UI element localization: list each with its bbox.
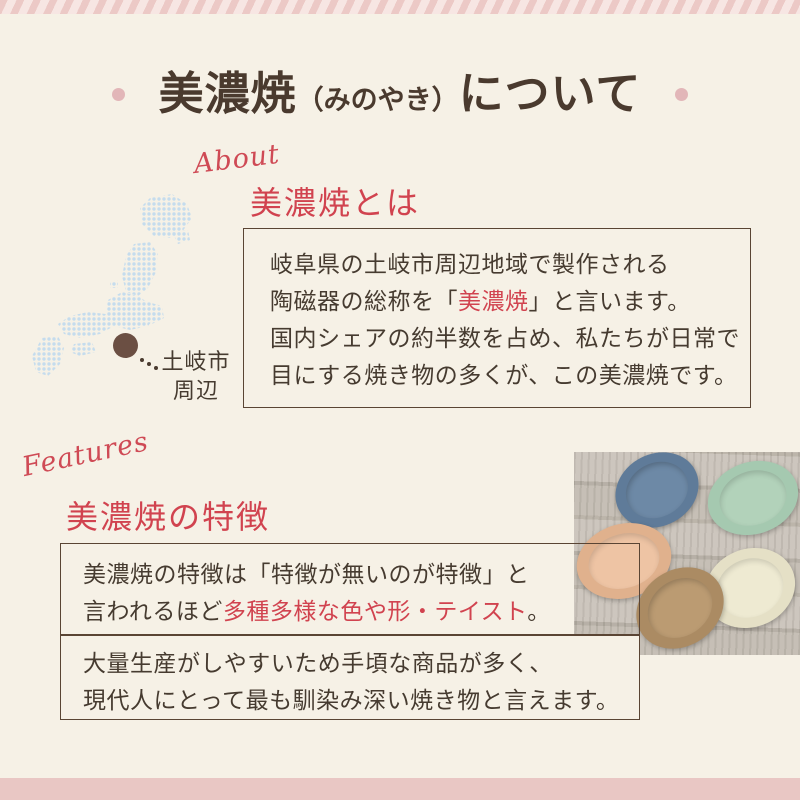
page-title-suffix: について xyxy=(459,69,642,119)
toki-city-marker-icon xyxy=(113,333,138,358)
about-text-box: 岐阜県の土岐市周辺地域で製作される 陶磁器の総称を「美濃焼」と言います。 国内シ… xyxy=(243,228,751,408)
page-title-main: 美濃焼 xyxy=(159,69,297,119)
page-title: 美濃焼（みのやき）について xyxy=(159,72,642,117)
features-section-heading: 美濃焼の特徴 xyxy=(66,492,270,538)
toki-label-line-1: 土岐市 xyxy=(160,348,232,377)
features-paragraph-2: 大量生産がしやすいため手頃な商品が多く、 現代人にとって最も馴染み深い焼き物と言… xyxy=(83,645,619,720)
leader-dot xyxy=(147,362,151,366)
features-p1-l2-highlight: 多種多様な色や形・テイスト xyxy=(223,599,527,624)
title-left-dot-icon xyxy=(112,88,125,101)
about-paragraph-2-line-1: 国内シェアの約半数を占め、私たちが日常で xyxy=(270,320,740,357)
about-p1-l2-post: 」と言います。 xyxy=(529,289,691,314)
features-script-label: Features xyxy=(20,426,152,483)
top-striped-band xyxy=(0,0,800,14)
toki-city-label: 土岐市 周辺 xyxy=(160,348,232,405)
features-paragraph-1-line-1: 美濃焼の特徴は「特徴が無いのが特徴」と xyxy=(83,556,551,593)
about-p1-l2-highlight: 美濃焼 xyxy=(458,289,529,314)
features-paragraph-1: 美濃焼の特徴は「特徴が無いのが特徴」と 言われるほど多種多様な色や形・テイスト。 xyxy=(83,556,551,631)
about-paragraph-2: 国内シェアの約半数を占め、私たちが日常で 目にする焼き物の多くが、この美濃焼です… xyxy=(270,320,740,395)
features-p1-l2-post: 。 xyxy=(527,599,551,624)
bottom-pink-band xyxy=(0,778,800,800)
features-p1-l2-pre: 言われるほど xyxy=(83,599,223,624)
about-paragraph-1-line-1: 岐阜県の土岐市周辺地域で製作される xyxy=(270,246,691,283)
features-paragraph-2-line-1: 大量生産がしやすいため手頃な商品が多く、 xyxy=(83,645,619,682)
about-p1-l2-pre: 陶磁器の総称を「 xyxy=(270,289,458,314)
features-paragraph-2-line-2: 現代人にとって最も馴染み深い焼き物と言えます。 xyxy=(83,682,619,719)
title-right-dot-icon xyxy=(675,88,688,101)
features-paragraph-1-line-2: 言われるほど多種多様な色や形・テイスト。 xyxy=(83,593,551,630)
toki-label-line-2: 周辺 xyxy=(160,377,232,406)
features-text-box-2: 大量生産がしやすいため手頃な商品が多く、 現代人にとって最も馴染み深い焼き物と言… xyxy=(60,635,640,720)
about-paragraph-1-line-2: 陶磁器の総称を「美濃焼」と言います。 xyxy=(270,283,691,320)
page-title-row: 美濃焼（みのやき）について xyxy=(0,42,800,147)
about-section-heading: 美濃焼とは xyxy=(250,178,420,224)
leader-dot xyxy=(154,366,158,370)
page-title-kana: （みのやき） xyxy=(297,85,459,115)
about-paragraph-2-line-2: 目にする焼き物の多くが、この美濃焼です。 xyxy=(270,357,740,394)
leader-dot xyxy=(140,358,144,362)
features-text-box-1: 美濃焼の特徴は「特徴が無いのが特徴」と 言われるほど多種多様な色や形・テイスト。 xyxy=(60,543,640,635)
about-paragraph-1: 岐阜県の土岐市周辺地域で製作される 陶磁器の総称を「美濃焼」と言います。 xyxy=(270,246,691,321)
